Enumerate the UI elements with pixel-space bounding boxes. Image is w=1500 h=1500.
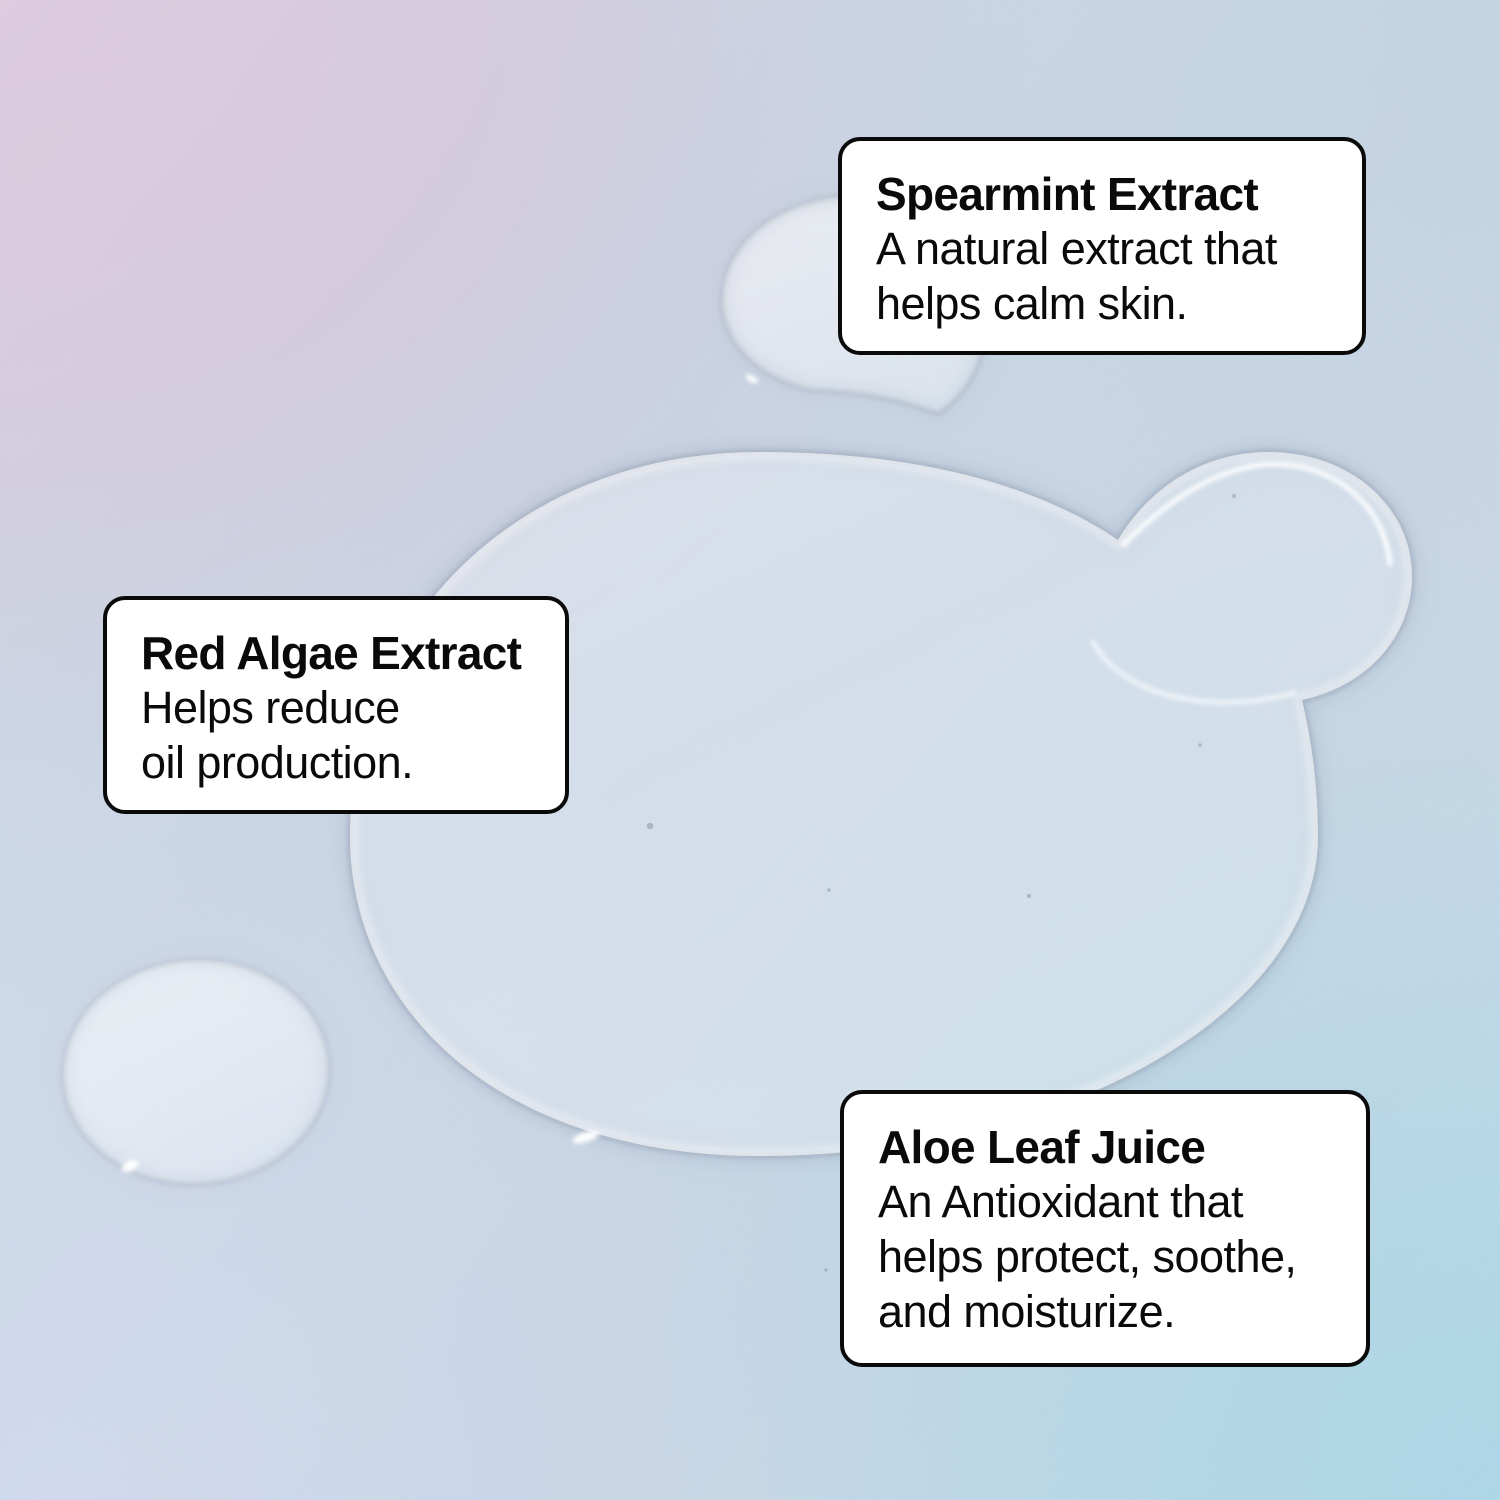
callout-body-line: A natural extract that xyxy=(876,222,1332,277)
callout-body-line: An Antioxidant that xyxy=(878,1175,1336,1230)
callout-body-line: helps protect, soothe, xyxy=(878,1230,1336,1285)
callout-title-spearmint: Spearmint Extract xyxy=(876,167,1332,221)
callout-card-spearmint[interactable]: Spearmint Extract A natural extract that… xyxy=(838,137,1366,355)
callout-body-aloe: An Antioxidant that helps protect, sooth… xyxy=(878,1175,1336,1339)
callout-body-line: helps calm skin. xyxy=(876,277,1332,332)
callout-card-aloe[interactable]: Aloe Leaf Juice An Antioxidant that help… xyxy=(840,1090,1370,1367)
callout-card-red-algae[interactable]: Red Algae Extract Helps reduce oil produ… xyxy=(103,596,569,814)
callout-body-line: and moisturize. xyxy=(878,1285,1336,1340)
product-ingredient-graphic: Spearmint Extract A natural extract that… xyxy=(0,0,1500,1500)
callout-title-red-algae: Red Algae Extract xyxy=(141,626,535,680)
callout-body-line: oil production. xyxy=(141,736,535,791)
callout-body-line: Helps reduce xyxy=(141,681,535,736)
callout-body-spearmint: A natural extract that helps calm skin. xyxy=(876,222,1332,331)
callout-body-red-algae: Helps reduce oil production. xyxy=(141,681,535,790)
callout-title-aloe: Aloe Leaf Juice xyxy=(878,1120,1336,1174)
